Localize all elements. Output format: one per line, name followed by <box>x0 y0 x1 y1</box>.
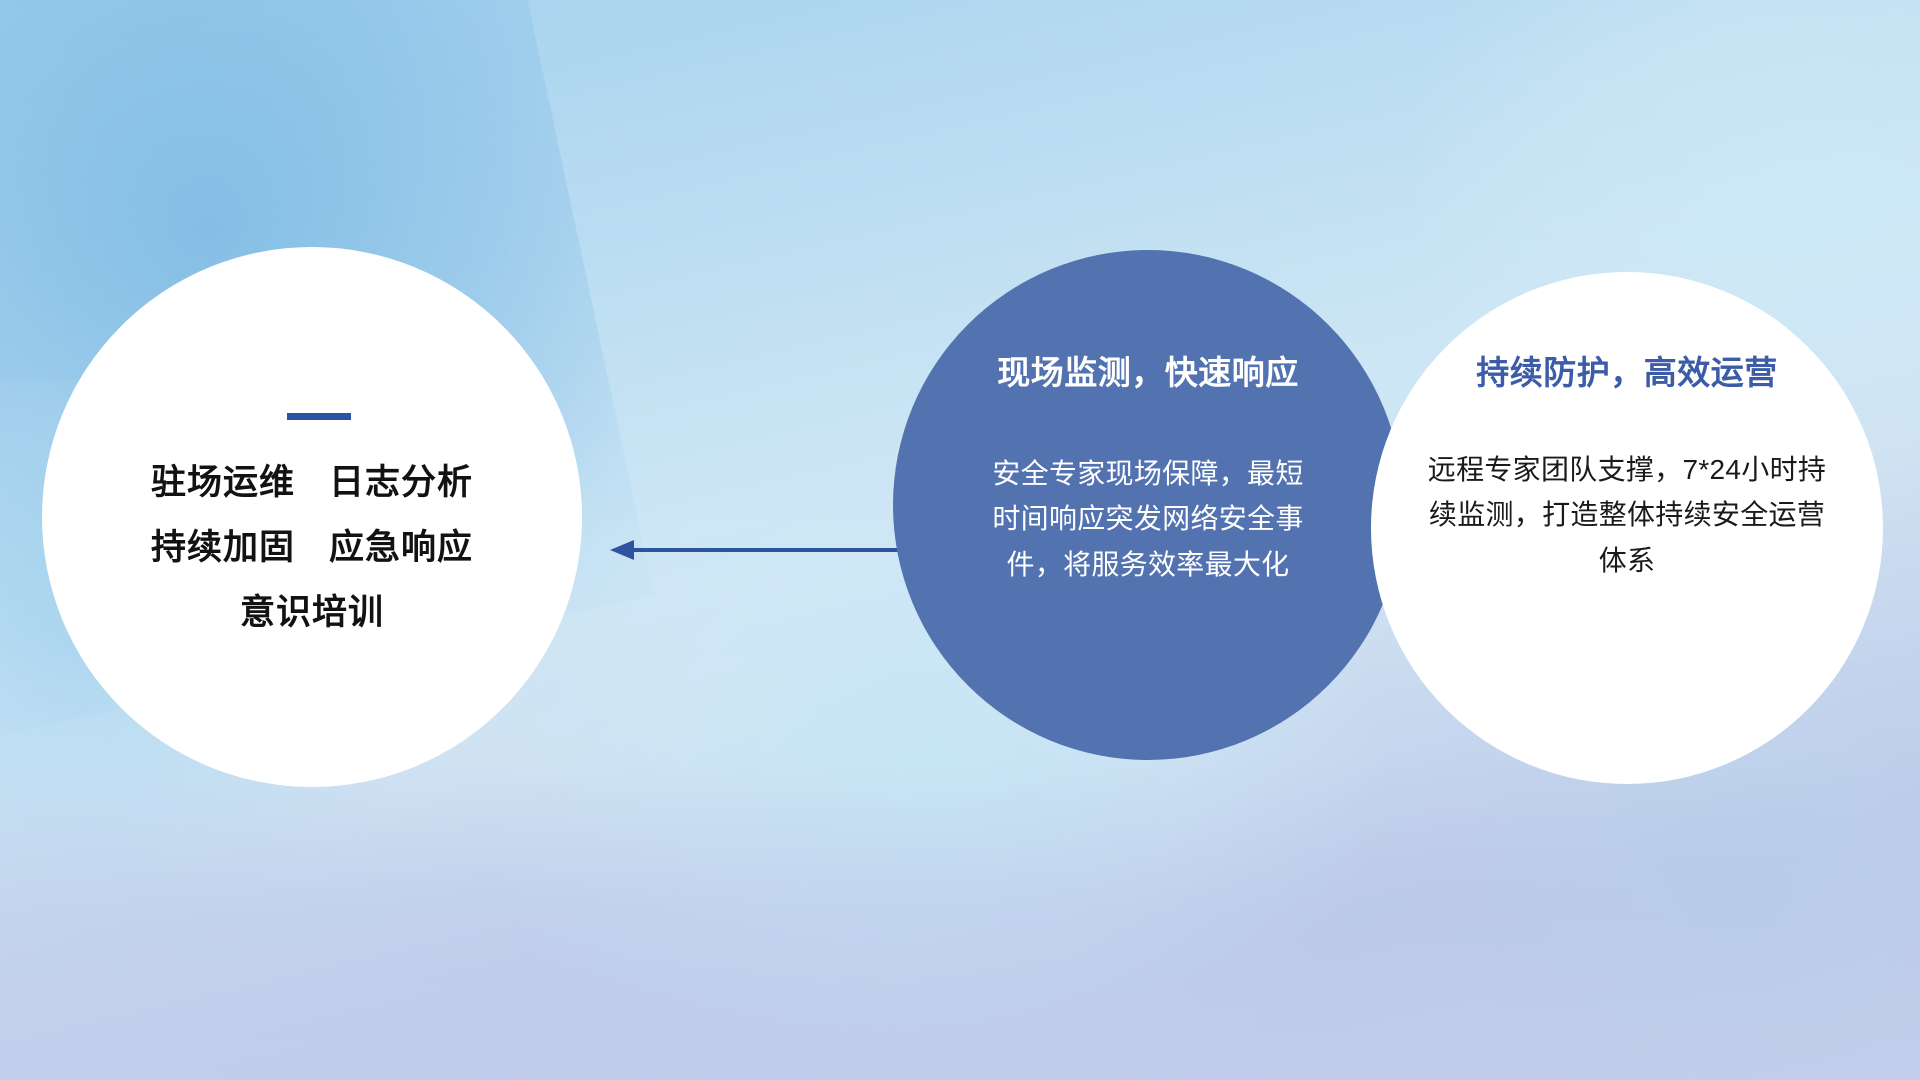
continuous-protection-title: 持续防护，高效运营 <box>1476 356 1778 389</box>
onsite-monitoring-content: 现场监测，快速响应 安全专家现场保障，最短时间响应突发网络安全事件，将服务效率最… <box>893 250 1403 760</box>
capability-row: 持续加固应急响应 <box>151 530 473 565</box>
capability-list: 驻场运维日志分析 持续加固应急响应 意识培训 <box>151 465 473 630</box>
capability-label: 应急响应 <box>329 530 473 565</box>
capability-label: 驻场运维 <box>151 463 295 502</box>
accent-dash-divider <box>287 413 351 420</box>
continuous-protection-description: 远程专家团队支撑，7*24小时持续监测，打造整体持续安全运营体系 <box>1417 447 1837 583</box>
background-wash-bottom <box>0 760 1920 1080</box>
capability-label: 日志分析 <box>329 465 473 500</box>
arrow-left-icon <box>608 525 908 575</box>
onsite-monitoring-description: 安全专家现场保障，最短时间响应突发网络安全事件，将服务效率最大化 <box>983 451 1313 587</box>
capability-label: 意识培训 <box>240 593 384 632</box>
capability-row: 驻场运维日志分析 <box>151 465 473 500</box>
capability-label: 持续加固 <box>151 528 295 567</box>
service-capabilities-content: 驻场运维日志分析 持续加固应急响应 意识培训 <box>42 247 582 787</box>
capability-row: 意识培训 <box>240 595 384 630</box>
service-capabilities-circle: 驻场运维日志分析 持续加固应急响应 意识培训 <box>42 247 582 787</box>
onsite-monitoring-circle: 现场监测，快速响应 安全专家现场保障，最短时间响应突发网络安全事件，将服务效率最… <box>893 250 1403 760</box>
onsite-monitoring-title: 现场监测，快速响应 <box>997 356 1299 389</box>
continuous-protection-circle: 持续防护，高效运营 远程专家团队支撑，7*24小时持续监测，打造整体持续安全运营… <box>1371 272 1883 784</box>
continuous-protection-content: 持续防护，高效运营 远程专家团队支撑，7*24小时持续监测，打造整体持续安全运营… <box>1371 272 1883 784</box>
slide-canvas: 驻场运维日志分析 持续加固应急响应 意识培训 现场监测，快速响应 安全专家现场保… <box>0 0 1920 1080</box>
